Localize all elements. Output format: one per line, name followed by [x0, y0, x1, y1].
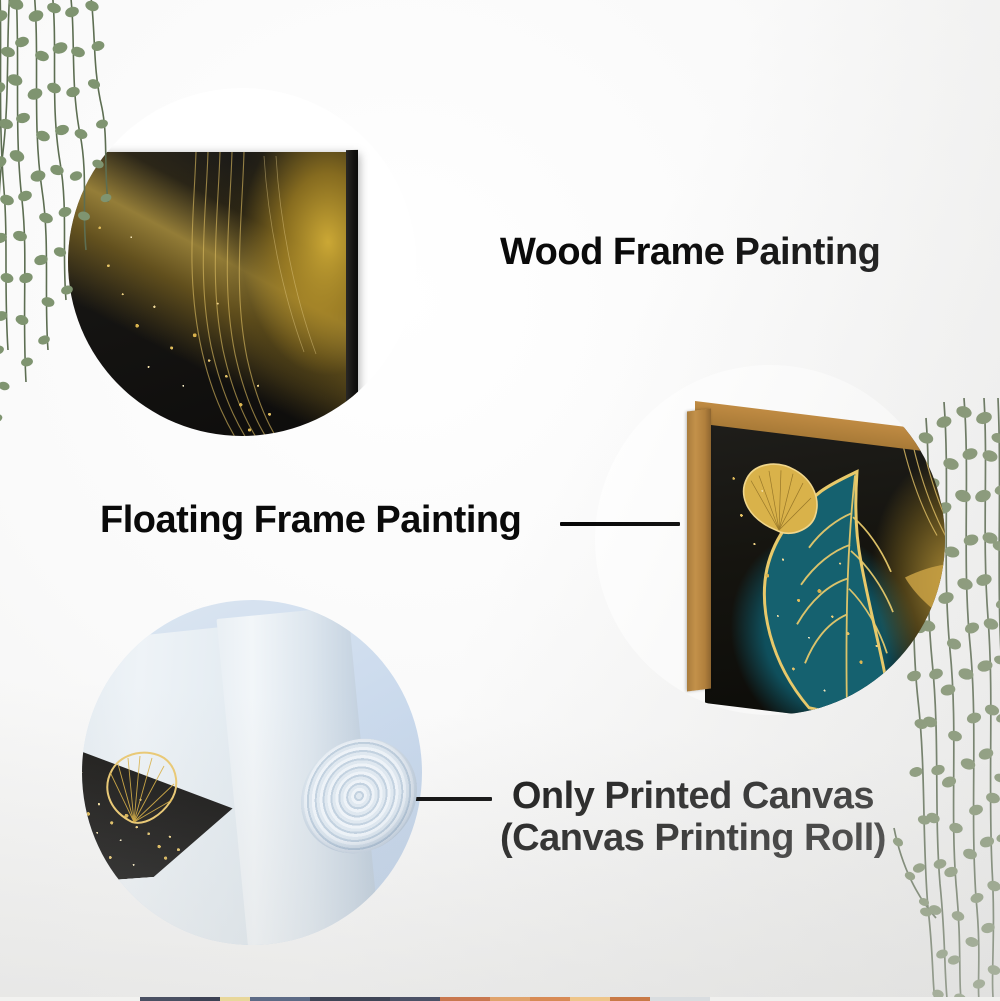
bottom-strip-segment — [220, 997, 250, 1001]
label-canvas-roll-line2: (Canvas Printing Roll) — [500, 818, 886, 860]
photo-floating-frame-painting — [595, 365, 945, 715]
bottom-strip-segment — [390, 997, 440, 1001]
frame-side-edge — [346, 150, 358, 436]
photo-printed-canvas-roll — [82, 600, 422, 945]
label-wood-frame-painting: Wood Frame Painting — [500, 232, 880, 273]
artwork-surface — [705, 403, 945, 715]
bottom-strip-segment — [650, 997, 710, 1001]
leaf-artwork-icon — [705, 403, 945, 715]
leader-line-floating-frame — [560, 522, 680, 526]
bottom-strip-segment — [530, 997, 570, 1001]
gold-ginkgo-leaf-icon — [100, 750, 180, 828]
label-canvas-roll-line1: Only Printed Canvas — [512, 775, 874, 817]
gold-speckles-icon — [68, 152, 356, 436]
bottom-strip-segment — [140, 997, 190, 1001]
bottom-strip-segment — [310, 997, 390, 1001]
bottom-color-strip — [0, 997, 1000, 1001]
gold-strand-lines-icon — [68, 152, 356, 436]
photo-wood-frame-painting — [68, 88, 416, 436]
bottom-strip-segment — [250, 997, 310, 1001]
bottom-strip-segment — [0, 997, 140, 1001]
label-floating-frame-painting: Floating Frame Painting — [100, 500, 521, 541]
bottom-strip-segment — [190, 997, 220, 1001]
bottom-strip-segment — [440, 997, 490, 1001]
bottom-strip-segment — [710, 997, 1000, 1001]
bottom-strip-segment — [490, 997, 530, 1001]
artwork-surface — [68, 152, 356, 436]
bottom-strip-segment — [570, 997, 610, 1001]
bottom-strip-segment — [610, 997, 650, 1001]
wood-frame-side — [687, 409, 711, 692]
infographic-stage: Wood Frame Painting Floating Frame Paint… — [0, 0, 1000, 1001]
label-canvas-roll: Only Printed Canvas (Canvas Printing Rol… — [500, 776, 886, 860]
